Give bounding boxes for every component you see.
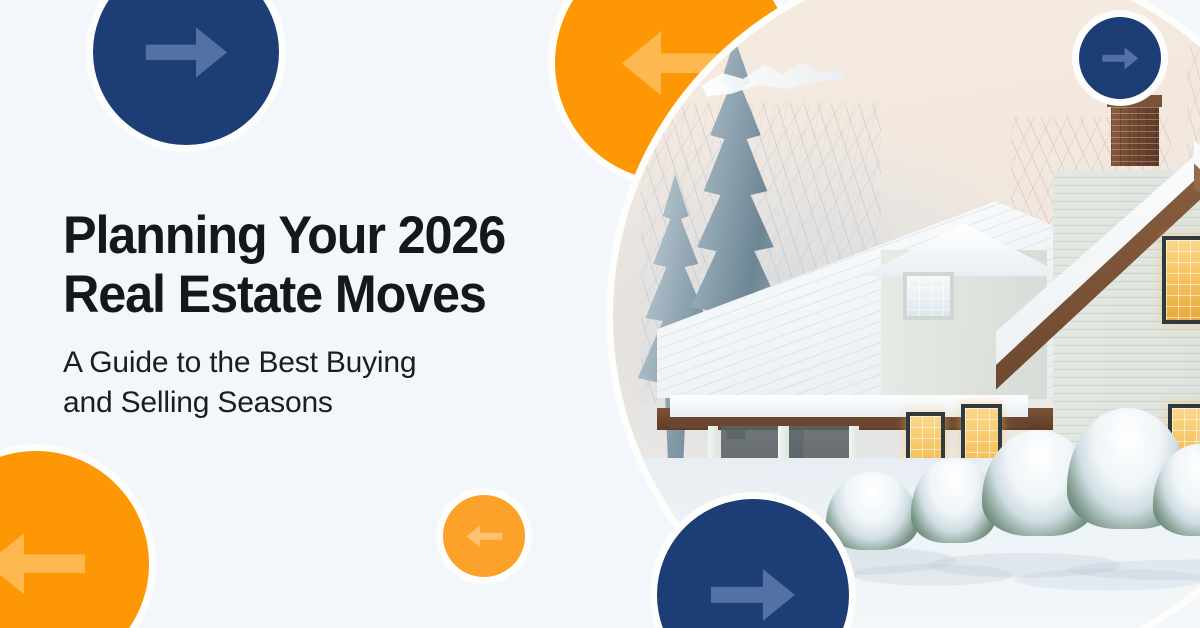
arrow-right-icon (1099, 37, 1142, 80)
dormer-window (903, 272, 954, 320)
headline: Planning Your 2026 Real Estate Moves (63, 206, 576, 325)
orange-circle-bottom-left (0, 444, 156, 628)
subheadline: A Guide to the Best Buying and Selling S… (63, 343, 603, 423)
frosted-bush (1195, 387, 1200, 515)
orange-circle-small (436, 488, 532, 584)
chimney-bricks (1111, 95, 1159, 165)
arrow-left-icon (0, 505, 95, 623)
brick-chimney (1111, 95, 1159, 165)
arrow-left-icon (463, 515, 506, 558)
navy-circle-top-left (86, 0, 286, 152)
arrow-right-icon (138, 4, 235, 101)
marketing-banner: Planning Your 2026 Real Estate Moves A G… (0, 0, 1200, 628)
arrow-right-icon (703, 545, 803, 628)
text-block: Planning Your 2026 Real Estate Moves A G… (63, 206, 603, 423)
window-upper-left (1162, 236, 1200, 324)
navy-circle-top-right (1072, 10, 1168, 106)
